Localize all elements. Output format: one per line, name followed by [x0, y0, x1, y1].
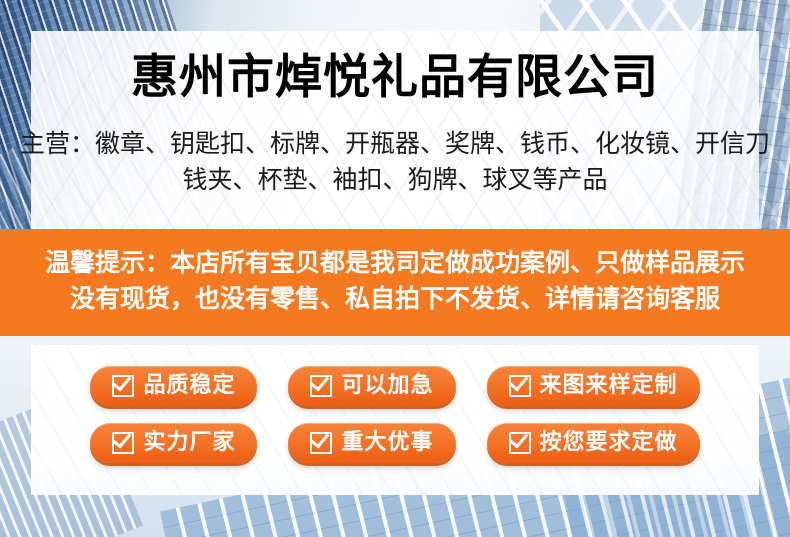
feature-badge-grid: 品质稳定 可以加急 来图来样定制 实力厂家 重大优事 按您要求定做: [0, 336, 790, 537]
company-title: 惠州市焯悦礼品有限公司: [0, 0, 790, 106]
feature-badge-made-to-order[interactable]: 按您要求定做: [487, 423, 700, 463]
feature-badge-rush-order[interactable]: 可以加急: [288, 366, 455, 406]
feature-badge-label: 可以加急: [341, 375, 433, 397]
check-box-icon: [112, 375, 134, 397]
feature-badge-major-priority[interactable]: 重大优事: [288, 423, 455, 463]
feature-badge-label: 品质稳定: [143, 375, 235, 397]
shop-banner: 惠州市焯悦礼品有限公司 主营：徽章、钥匙扣、标牌、开瓶器、奖牌、钱币、化妆镜、开…: [0, 0, 790, 537]
business-scope-line-2: 钱夹、杯垫、袖扣、狗牌、球叉等产品: [0, 163, 790, 197]
header-text-block: 惠州市焯悦礼品有限公司 主营：徽章、钥匙扣、标牌、开瓶器、奖牌、钱币、化妆镜、开…: [0, 0, 790, 229]
feature-badge-label: 来图来样定制: [540, 375, 678, 397]
feature-badge-label: 实力厂家: [143, 432, 235, 454]
check-box-icon: [310, 375, 332, 397]
feature-badge-row-2: 实力厂家 重大优事 按您要求定做: [90, 423, 699, 463]
notice-line-2: 没有现货，也没有零售、私自拍下不发货、详情请咨询客服: [0, 281, 790, 317]
check-box-icon: [509, 375, 531, 397]
business-scope-line-1: 主营：徽章、钥匙扣、标牌、开瓶器、奖牌、钱币、化妆镜、开信刀: [0, 127, 790, 161]
check-box-icon: [509, 432, 531, 454]
check-box-icon: [112, 432, 134, 454]
notice-banner: 温馨提示：本店所有宝贝都是我司定做成功案例、只做样品展示 没有现货，也没有零售、…: [0, 229, 790, 336]
check-box-icon: [310, 432, 332, 454]
notice-line-1: 温馨提示：本店所有宝贝都是我司定做成功案例、只做样品展示: [0, 229, 790, 281]
feature-badge-label: 重大优事: [341, 432, 433, 454]
feature-badge-strong-factory[interactable]: 实力厂家: [90, 423, 257, 463]
feature-badge-label: 按您要求定做: [540, 432, 678, 454]
feature-badge-quality-stable[interactable]: 品质稳定: [90, 366, 257, 406]
feature-badge-row-1: 品质稳定 可以加急 来图来样定制: [90, 366, 699, 406]
feature-badge-custom-from-image[interactable]: 来图来样定制: [487, 366, 700, 406]
